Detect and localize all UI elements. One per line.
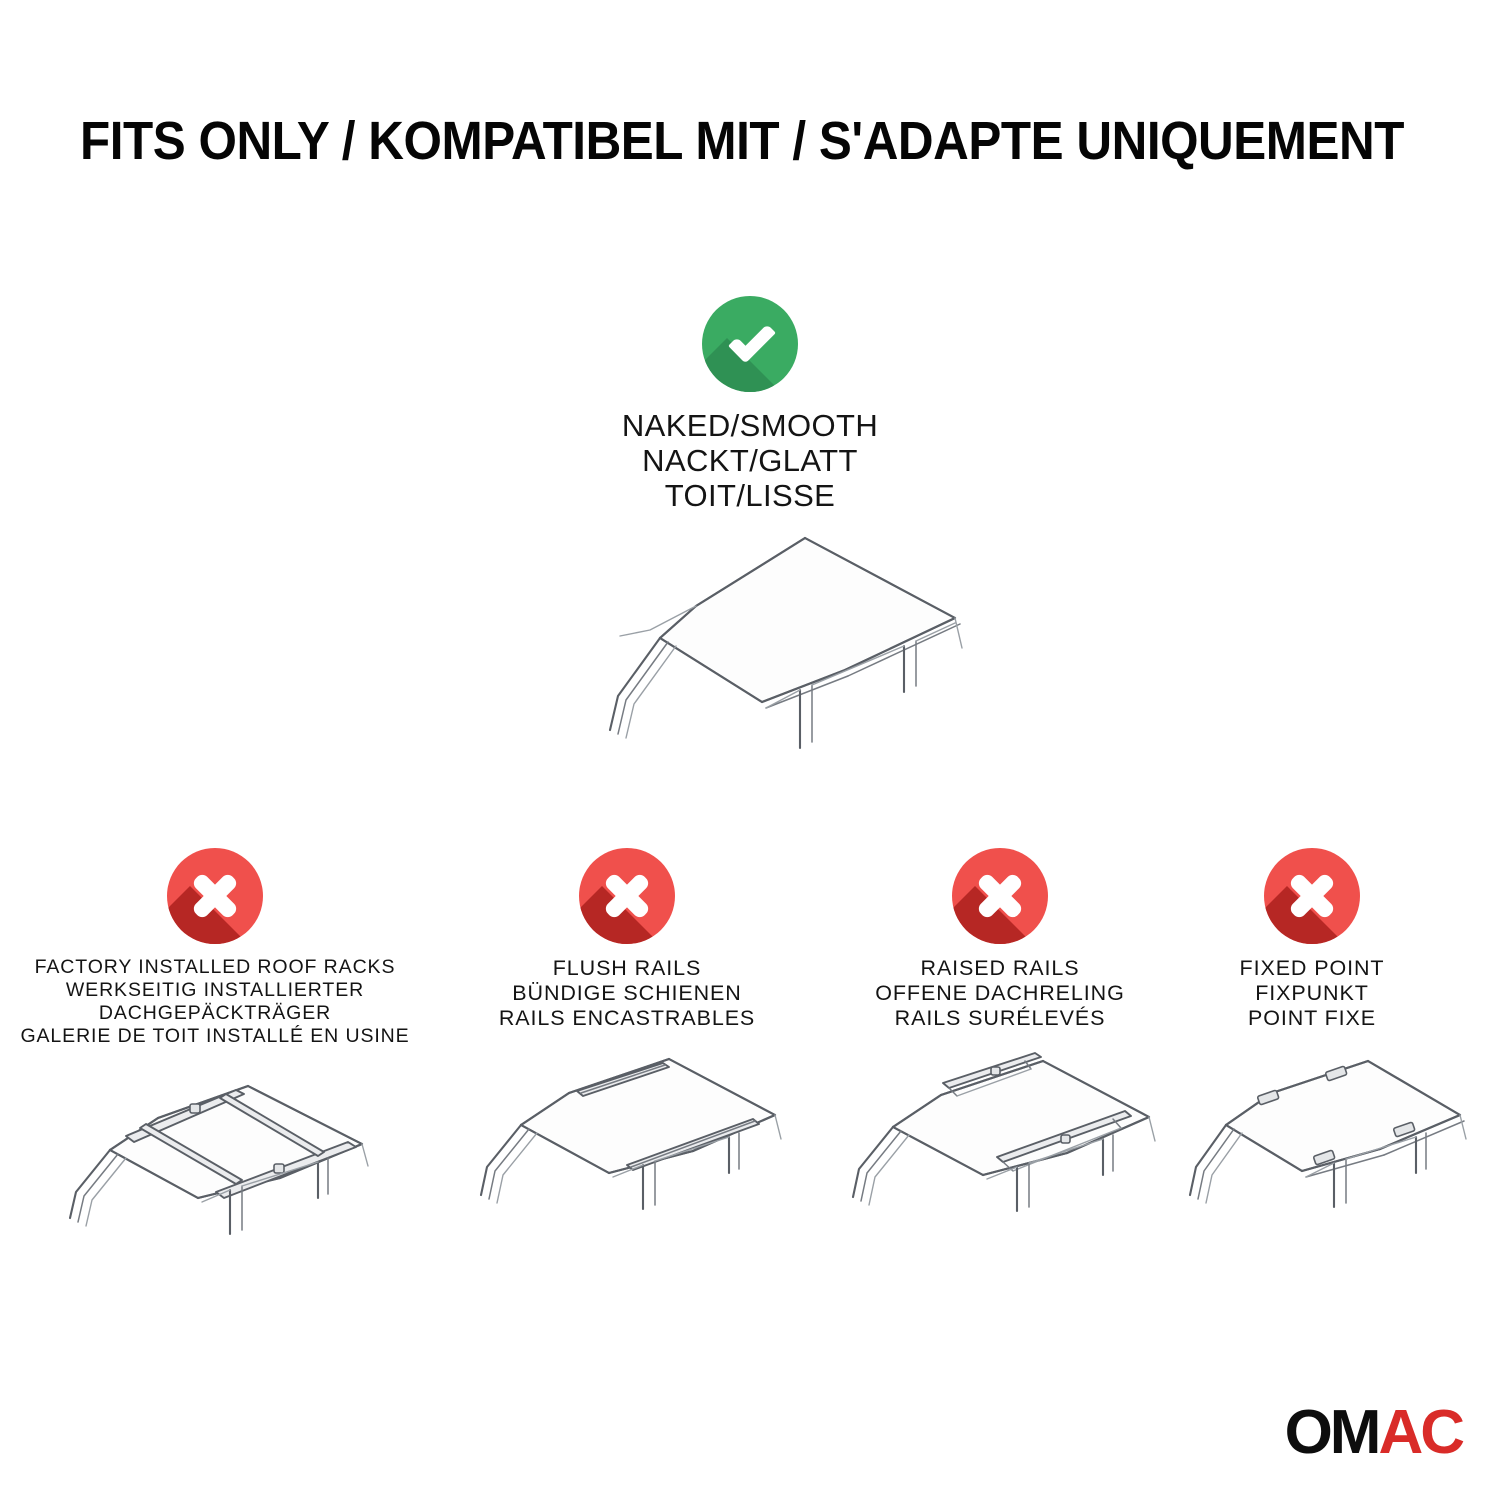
compatible-section: NAKED/SMOOTH NACKT/GLATT TOIT/LISSE — [0, 296, 1500, 513]
incompatible-item-raised-rails: RAISED RAILS OFFENE DACHRELING RAILS SUR… — [825, 848, 1175, 1264]
cross-badge — [1264, 848, 1360, 944]
badge-wrap — [457, 848, 797, 956]
cross-icon — [1264, 848, 1360, 944]
incompatible-labels: FACTORY INSTALLED ROOF RACKS WERKSEITIG … — [15, 956, 415, 1048]
label-de: OFFENE DACHRELING — [825, 981, 1175, 1006]
compatible-labels: NAKED/SMOOTH NACKT/GLATT TOIT/LISSE — [0, 408, 1500, 513]
label-en: FACTORY INSTALLED ROOF RACKS — [15, 956, 415, 979]
incompatible-item-fixed-point: FIXED POINT FIXPUNKT POINT FIXE — [1172, 848, 1452, 1264]
check-icon — [702, 296, 798, 392]
label-en: FIXED POINT — [1172, 956, 1452, 981]
label-fr: RAILS ENCASTRABLES — [457, 1006, 797, 1031]
raised-rails-roof-illustration — [825, 1049, 1175, 1264]
badge-wrap — [825, 848, 1175, 956]
label-de-line2: DACHGEPÄCKTRÄGER — [15, 1002, 415, 1025]
logo-text-om: OM — [1285, 1398, 1379, 1467]
cross-badge — [579, 848, 675, 944]
page-title: FITS ONLY / KOMPATIBEL MIT / S'ADAPTE UN… — [80, 113, 1404, 170]
compatible-label-fr: TOIT/LISSE — [0, 478, 1500, 513]
badge-wrap — [1172, 848, 1452, 956]
label-fr: POINT FIXE — [1172, 1006, 1452, 1031]
incompatible-section: FACTORY INSTALLED ROOF RACKS WERKSEITIG … — [0, 848, 1500, 1288]
factory-installed-roof-racks-illustration — [15, 1066, 415, 1281]
label-de: BÜNDIGE SCHIENEN — [457, 981, 797, 1006]
incompatible-item-factory-racks: FACTORY INSTALLED ROOF RACKS WERKSEITIG … — [15, 848, 415, 1281]
compatible-label-en: NAKED/SMOOTH — [0, 408, 1500, 443]
label-de: FIXPUNKT — [1172, 981, 1452, 1006]
label-fr: GALERIE DE TOIT INSTALLÉ EN USINE — [15, 1025, 415, 1048]
incompatible-labels: FIXED POINT FIXPUNKT POINT FIXE — [1172, 956, 1452, 1031]
flush-rails-roof-illustration — [457, 1049, 797, 1264]
fixed-point-roof-illustration — [1172, 1049, 1452, 1264]
label-fr: RAILS SURÉLEVÉS — [825, 1006, 1175, 1031]
badge-wrap — [15, 848, 415, 956]
naked-smooth-roof-illustration — [0, 520, 1500, 805]
check-badge — [702, 296, 798, 392]
cross-icon — [167, 848, 263, 944]
cross-icon — [579, 848, 675, 944]
omac-logo: OMAC — [1285, 1402, 1462, 1464]
incompatible-labels: RAISED RAILS OFFENE DACHRELING RAILS SUR… — [825, 956, 1175, 1031]
label-de-line1: WERKSEITIG INSTALLIERTER — [15, 979, 415, 1002]
compatible-label-de: NACKT/GLATT — [0, 443, 1500, 478]
cross-icon — [952, 848, 1048, 944]
incompatible-item-flush-rails: FLUSH RAILS BÜNDIGE SCHIENEN RAILS ENCAS… — [457, 848, 797, 1264]
label-en: FLUSH RAILS — [457, 956, 797, 981]
cross-badge — [952, 848, 1048, 944]
cross-badge — [167, 848, 263, 944]
label-en: RAISED RAILS — [825, 956, 1175, 981]
incompatible-labels: FLUSH RAILS BÜNDIGE SCHIENEN RAILS ENCAS… — [457, 956, 797, 1031]
logo-text-ac: AC — [1378, 1398, 1462, 1467]
